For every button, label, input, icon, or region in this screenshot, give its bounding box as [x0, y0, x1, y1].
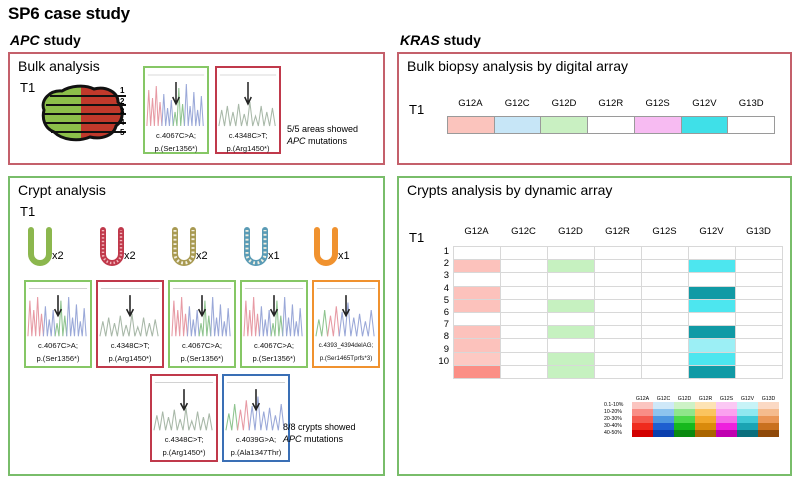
grid-row-number: 6: [433, 307, 449, 319]
legend-swatch-g12v: [737, 409, 758, 416]
chromatogram-trace: [314, 282, 378, 340]
legend-swatch-g12a: [632, 416, 653, 423]
legend-swatch-g12a: [632, 409, 653, 416]
legend-row: 10-20%: [604, 409, 779, 416]
column-header-g13d: G13D: [735, 226, 782, 237]
kras-gene-name: KRAS: [400, 32, 440, 48]
note-gene-name: APC: [283, 434, 302, 444]
chromatogram-cdna: c.4039G>A;: [224, 434, 288, 447]
grid-cell-g12r-row1: [595, 247, 642, 260]
grid-cell-g12v-row5: [689, 299, 736, 312]
chromatogram-cdna: c.4348C>T;: [98, 340, 162, 353]
crypt-glyph-item: x2: [24, 226, 86, 274]
grid-cell-g13d-row8: [736, 339, 783, 352]
legend-swatch-g12c: [653, 402, 674, 409]
grid-cell-g13d-row10: [736, 365, 783, 378]
grid-cell-g12a-row5: [454, 299, 501, 312]
grid-cell-g13d-row2: [736, 260, 783, 273]
panel-title-crypt-kras: Crypts analysis by dynamic array: [407, 182, 612, 198]
kras-crypts-grid-wrap: [453, 246, 783, 379]
grid-cell-g12s-row7: [642, 326, 689, 339]
column-header-g12d: G12D: [541, 98, 588, 109]
note-line-1: 8/8 crypts showed: [283, 422, 356, 434]
panel-crypt-analysis-apc: Crypt analysis T1 x2x2x2x1x1 c.4067C>A;p…: [8, 176, 385, 476]
column-header-g12d: G12D: [547, 226, 594, 237]
legend-swatch-g13d: [758, 416, 779, 423]
grid-cell-g12c-row8: [501, 339, 548, 352]
grid-cell-g12s-row1: [642, 247, 689, 260]
chromatogram-cdna: c.4067C>A;: [26, 340, 90, 353]
legend-swatch-g12s: [716, 416, 737, 423]
grid-row-number: 9: [433, 344, 449, 356]
grid-cell-g12s-row3: [642, 273, 689, 286]
crypt-count-label: x1: [268, 250, 280, 262]
grid-row-number: 3: [433, 270, 449, 282]
column-header-g12v: G12V: [688, 226, 735, 237]
grid-cell-g12s-row8: [642, 339, 689, 352]
legend-row: 30-40%: [604, 423, 779, 430]
kras-crypts-grid: [453, 246, 783, 379]
chromatogram-protein: p.(Arg1450*): [98, 353, 162, 366]
legend-swatch-g12v: [737, 423, 758, 430]
column-header-g12r: G12R: [587, 98, 634, 109]
grid-cell-g12r-row5: [595, 299, 642, 312]
legend-swatch-g12r: [695, 416, 716, 423]
crypt-count-label: x2: [52, 250, 64, 262]
grid-row: [454, 326, 783, 339]
grid-row-number: 1: [433, 246, 449, 258]
kras-study-heading: KRAS study: [400, 32, 481, 48]
grid-row: [454, 365, 783, 378]
note-gene-name: APC: [287, 136, 306, 146]
grid-cell-g12r-row2: [595, 260, 642, 273]
legend-swatch-g12c: [653, 409, 674, 416]
legend-swatch-g12d: [674, 416, 695, 423]
legend-row: 20-30%: [604, 416, 779, 423]
panel-title-crypt-apc: Crypt analysis: [18, 182, 106, 198]
apc-gene-name: APC: [10, 32, 40, 48]
grid-cell-g12v-row6: [689, 312, 736, 325]
chromatogram-protein: p.(Ala1347Thr): [224, 447, 288, 460]
legend-swatch-g12s: [716, 423, 737, 430]
chromatogram-cdna: c.4067C>A;: [145, 130, 207, 143]
grid-cell-g12r-row9: [595, 352, 642, 365]
grid-cell-g12d-row3: [548, 273, 595, 286]
grid-cell-g12r-row3: [595, 273, 642, 286]
column-header-g12c: G12C: [494, 98, 541, 109]
grid-cell-g12c-row7: [501, 326, 548, 339]
crypt-glyph-item: x1: [240, 226, 302, 274]
grid-row: [454, 339, 783, 352]
panel-title-bulk-kras: Bulk biopsy analysis by digital array: [407, 58, 628, 74]
bulk-cell-g12s: [635, 117, 682, 133]
legend-swatch-g13d: [758, 430, 779, 437]
grid-row: [454, 260, 783, 273]
grid-cell-g12c-row9: [501, 352, 548, 365]
chromatogram-cdna: c.4067C>A;: [170, 340, 234, 353]
grid-cell-g12c-row10: [501, 365, 548, 378]
legend-range-label: 40-50%: [604, 430, 632, 437]
grid-cell-g12v-row3: [689, 273, 736, 286]
crypt-glyph-item: x2: [96, 226, 158, 274]
chromatogram-protein: p.(Ser1356*): [26, 353, 90, 366]
chromatogram-card: c.4067C>A; p.(Ser1356*): [143, 66, 209, 154]
panel-crypts-analysis-kras: Crypts analysis by dynamic array T1 G12A…: [397, 176, 792, 476]
crypt-glyph-item: x1: [310, 226, 372, 274]
legend-swatch-g12c: [653, 423, 674, 430]
grid-cell-g12v-row9: [689, 352, 736, 365]
chromatogram-trace: [217, 68, 279, 130]
legend-range-label: 10-20%: [604, 409, 632, 416]
grid-cell-g12a-row4: [454, 286, 501, 299]
chromatogram-card: c.4067C>A;p.(Ser1356*): [24, 280, 92, 368]
grid-cell-g12d-row8: [548, 339, 595, 352]
column-header-g12a: G12A: [447, 98, 494, 109]
chromatogram-card: c.4067C>A;p.(Ser1356*): [168, 280, 236, 368]
grid-cell-g12a-row3: [454, 273, 501, 286]
grid-cell-g12r-row8: [595, 339, 642, 352]
chromatogram-trace: [242, 282, 306, 340]
colour-scale-legend: G12AG12CG12DG12RG12SG12VG13D 0.1-10%10-2…: [604, 396, 779, 437]
grid-row-number: 4: [433, 283, 449, 295]
panel-title-bulk-apc: Bulk analysis: [18, 58, 100, 74]
chromatogram-cdna: c.4348C>T;: [217, 130, 279, 143]
slice-number: 2: [120, 97, 124, 108]
figure-root: SP6 case study APC study KRAS study Bulk…: [0, 0, 800, 485]
chromatogram-cdna: c.4067C>A;: [242, 340, 306, 353]
legend-swatch-g12d: [674, 409, 695, 416]
grid-cell-g12d-row4: [548, 286, 595, 299]
note-line-2: mutations: [306, 136, 348, 146]
crypt-count-label: x2: [124, 250, 136, 262]
legend-swatch-g12v: [737, 416, 758, 423]
grid-cell-g12v-row8: [689, 339, 736, 352]
column-header-g12s: G12S: [634, 98, 681, 109]
legend-swatch-g12d: [674, 423, 695, 430]
grid-cell-g13d-row1: [736, 247, 783, 260]
kras-bulk-result-bar: [447, 116, 775, 134]
legend-swatch-g12v: [737, 402, 758, 409]
grid-cell-g12d-row5: [548, 299, 595, 312]
panel-bulk-biopsy-kras: Bulk biopsy analysis by digital array T1…: [397, 52, 792, 165]
grid-row: [454, 299, 783, 312]
grid-cell-g12c-row4: [501, 286, 548, 299]
kras-crypts-column-headers: G12AG12CG12DG12RG12SG12VG13D: [453, 226, 782, 237]
grid-cell-g12v-row2: [689, 260, 736, 273]
column-header-g12s: G12S: [641, 226, 688, 237]
legend-swatch-g12r: [695, 430, 716, 437]
page-title: SP6 case study: [8, 4, 130, 24]
column-header-g12a: G12A: [453, 226, 500, 237]
kras-bulk-column-headers: G12AG12CG12DG12RG12SG12VG13D: [447, 98, 775, 109]
grid-cell-g12d-row2: [548, 260, 595, 273]
grid-cell-g12v-row4: [689, 286, 736, 299]
grid-cell-g12d-row1: [548, 247, 595, 260]
legend-range-label: 20-30%: [604, 416, 632, 423]
chromatogram-card: c.4348C>T;p.(Arg1450*): [96, 280, 164, 368]
grid-row-number: 10: [433, 356, 449, 368]
grid-cell-g12d-row7: [548, 326, 595, 339]
bulk-cell-g13d: [728, 117, 774, 133]
legend-swatch-g12d: [674, 430, 695, 437]
grid-row: [454, 273, 783, 286]
legend-swatch-g12v: [737, 430, 758, 437]
column-header-g13d: G13D: [728, 98, 775, 109]
slice-number: 1: [120, 86, 124, 97]
crypt-count-label: x1: [338, 250, 350, 262]
legend-swatch-g12c: [653, 430, 674, 437]
grid-cell-g12d-row9: [548, 352, 595, 365]
grid-cell-g12c-row1: [501, 247, 548, 260]
kras-study-suffix: study: [440, 32, 481, 48]
panel-bulk-analysis-apc: Bulk analysis T1: [8, 52, 385, 165]
note-line-2: mutations: [302, 434, 344, 444]
chromatogram-trace: [98, 282, 162, 340]
chromatogram-card: c.4039G>A;p.(Ala1347Thr): [222, 374, 290, 462]
grid-cell-g12c-row2: [501, 260, 548, 273]
grid-cell-g12a-row2: [454, 260, 501, 273]
grid-cell-g13d-row6: [736, 312, 783, 325]
grid-cell-g13d-row5: [736, 299, 783, 312]
slice-numbers: 1 2 3 4 5: [120, 86, 124, 139]
legend-range-label: 30-40%: [604, 423, 632, 430]
bulk-cell-g12c: [495, 117, 542, 133]
chromatogram-protein: p.(Arg1450*): [152, 447, 216, 460]
grid-cell-g12r-row7: [595, 326, 642, 339]
slice-number: 3: [120, 107, 124, 118]
legend-swatch-g12c: [653, 416, 674, 423]
grid-row: [454, 352, 783, 365]
legend-row: 0.1-10%: [604, 402, 779, 409]
chromatogram-protein: p.(Ser1465Tprfs*3): [314, 353, 378, 366]
grid-cell-g12a-row6: [454, 312, 501, 325]
chromatogram-card: c.4348C>T;p.(Arg1450*): [150, 374, 218, 462]
legend-swatch-g12a: [632, 430, 653, 437]
crypt-apc-summary-note: 8/8 crypts showed APC mutations: [283, 422, 356, 445]
bulk-cell-g12d: [541, 117, 588, 133]
grid-row: [454, 247, 783, 260]
legend-rows: 0.1-10%10-20%20-30%30-40%40-50%: [604, 402, 779, 437]
grid-cell-g12a-row9: [454, 352, 501, 365]
grid-row-number: 5: [433, 295, 449, 307]
grid-cell-g12c-row3: [501, 273, 548, 286]
apc-study-suffix: study: [40, 32, 81, 48]
grid-cell-g12d-row10: [548, 365, 595, 378]
sample-label-t1-bulk-apc: T1: [20, 80, 35, 95]
legend-swatch-g12s: [716, 409, 737, 416]
grid-cell-g12v-row10: [689, 365, 736, 378]
grid-cell-g12c-row5: [501, 299, 548, 312]
chromatogram-protein: p.(Ser1356*): [145, 143, 207, 156]
crypt-count-label: x2: [196, 250, 208, 262]
legend-swatch-g13d: [758, 409, 779, 416]
grid-row-number: 2: [433, 258, 449, 270]
tumour-blob-icon: [34, 82, 142, 144]
grid-cell-g13d-row9: [736, 352, 783, 365]
grid-cell-g12r-row6: [595, 312, 642, 325]
grid-cell-g12v-row1: [689, 247, 736, 260]
chromatogram-card: c.4393_4394delAG;p.(Ser1465Tprfs*3): [312, 280, 380, 368]
chromatogram-protein: p.(Ser1356*): [242, 353, 306, 366]
grid-cell-g12s-row2: [642, 260, 689, 273]
bulk-apc-summary-note: 5/5 areas showed APC mutations: [287, 124, 358, 147]
legend-swatch-g13d: [758, 402, 779, 409]
grid-cell-g13d-row7: [736, 326, 783, 339]
sample-label-t1-bulk-kras: T1: [409, 102, 424, 117]
chromatogram-trace: [152, 376, 216, 434]
chromatogram-trace: [26, 282, 90, 340]
grid-cell-g12s-row4: [642, 286, 689, 299]
grid-cell-g12r-row4: [595, 286, 642, 299]
chromatogram-card: c.4348C>T; p.(Arg1450*): [215, 66, 281, 154]
legend-range-label: 0.1-10%: [604, 402, 632, 409]
tumour-blob-diagram: 1 2 3 4 5: [34, 82, 142, 144]
chromatogram-trace: [145, 68, 207, 130]
chromatogram-trace: [224, 376, 288, 434]
grid-cell-g12s-row6: [642, 312, 689, 325]
grid-cell-g12s-row5: [642, 299, 689, 312]
chromatogram-protein: p.(Arg1450*): [217, 143, 279, 156]
legend-swatch-g12r: [695, 409, 716, 416]
grid-row-numbers: 12345678910: [433, 246, 449, 368]
legend-swatch-g12r: [695, 423, 716, 430]
grid-cell-g12s-row10: [642, 365, 689, 378]
grid-cell-g12a-row10: [454, 365, 501, 378]
chromatogram-cdna: c.4393_4394delAG;: [314, 340, 378, 353]
sample-label-t1-crypt-apc: T1: [20, 204, 35, 219]
grid-cell-g12a-row1: [454, 247, 501, 260]
legend-swatch-g12a: [632, 423, 653, 430]
legend-swatch-g12d: [674, 402, 695, 409]
column-header-g12r: G12R: [594, 226, 641, 237]
grid-cell-g12a-row8: [454, 339, 501, 352]
legend-swatch-g13d: [758, 423, 779, 430]
bulk-cell-g12r: [588, 117, 635, 133]
sample-label-t1-crypt-kras: T1: [409, 230, 424, 245]
grid-row: [454, 286, 783, 299]
legend-swatch-g12s: [716, 402, 737, 409]
grid-row-number: 7: [433, 319, 449, 331]
legend-swatch-g12s: [716, 430, 737, 437]
note-line-1: 5/5 areas showed: [287, 124, 358, 136]
chromatogram-card: c.4067C>A;p.(Ser1356*): [240, 280, 308, 368]
grid-cell-g12v-row7: [689, 326, 736, 339]
legend-swatch-g12r: [695, 402, 716, 409]
slice-number: 4: [120, 118, 124, 129]
chromatogram-trace: [170, 282, 234, 340]
grid-cell-g12d-row6: [548, 312, 595, 325]
grid-cell-g13d-row3: [736, 273, 783, 286]
grid-cell-g12s-row9: [642, 352, 689, 365]
column-header-g12v: G12V: [681, 98, 728, 109]
grid-row: [454, 312, 783, 325]
grid-cell-g12c-row6: [501, 312, 548, 325]
slice-number: 5: [120, 128, 124, 139]
grid-row-number: 8: [433, 331, 449, 343]
bulk-cell-g12a: [448, 117, 495, 133]
apc-study-heading: APC study: [10, 32, 81, 48]
chromatogram-cdna: c.4348C>T;: [152, 434, 216, 447]
legend-row: 40-50%: [604, 430, 779, 437]
legend-swatch-g12a: [632, 402, 653, 409]
crypt-glyph-item: x2: [168, 226, 230, 274]
grid-cell-g12r-row10: [595, 365, 642, 378]
bulk-cell-g12v: [682, 117, 729, 133]
grid-cell-g13d-row4: [736, 286, 783, 299]
chromatogram-protein: p.(Ser1356*): [170, 353, 234, 366]
column-header-g12c: G12C: [500, 226, 547, 237]
grid-cell-g12a-row7: [454, 326, 501, 339]
